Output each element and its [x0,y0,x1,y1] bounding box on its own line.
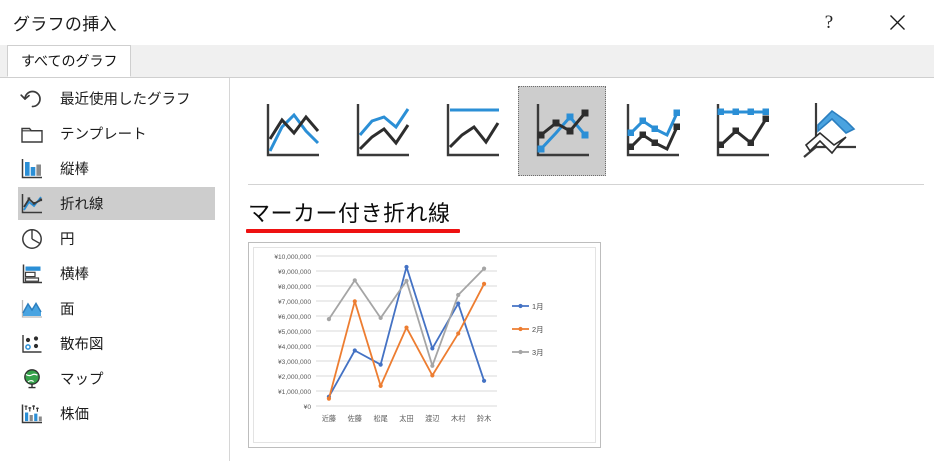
y-axis-tick-label: ¥7,000,000 [278,299,311,306]
three-d-line-thumb-icon [796,95,868,167]
series-line [329,269,484,366]
scatter-chart-icon [18,330,46,358]
pie-chart-icon [18,225,46,253]
y-axis-tick-label: ¥4,000,000 [278,344,311,351]
sidebar-item-map[interactable]: マップ [18,362,215,395]
insert-chart-dialog: グラフの挿入 ? すべてのグラフ [0,0,934,461]
y-axis-tick-label: ¥1,000,000 [278,389,311,396]
series-marker [456,301,460,305]
chart-category-sidebar: 最近使用したグラフ テンプレート [0,78,230,461]
series-marker [430,364,434,368]
y-axis-tick-label: ¥2,000,000 [278,374,311,381]
series-marker [482,267,486,271]
series-marker [353,278,357,282]
thumbnail-line-with-markers[interactable] [518,86,606,176]
sidebar-item-column[interactable]: 縦棒 [18,152,215,185]
sidebar-item-area[interactable]: 面 [18,292,215,325]
legend-label: 3月 [532,348,544,357]
stock-chart-icon [18,400,46,428]
series-marker [379,384,383,388]
title-bar: グラフの挿入 ? [0,0,934,45]
sidebar-item-label: テンプレート [60,123,147,144]
sidebar-item-bar[interactable]: 横棒 [18,257,215,290]
chart-preview-inner: ¥0¥1,000,000¥2,000,000¥3,000,000¥4,000,0… [253,247,596,443]
close-icon [889,14,906,31]
chart-preview-box[interactable]: ¥0¥1,000,000¥2,000,000¥3,000,000¥4,000,0… [248,242,601,448]
sidebar-item-scatter[interactable]: 散布図 [18,327,215,360]
help-button[interactable]: ? [806,0,852,45]
legend-marker-swatch [518,327,522,331]
x-axis-tick-label: 木村 [451,414,465,423]
sidebar-item-label: 縦棒 [60,158,89,179]
line-chart-icon [18,190,46,218]
stacked-line-thumb-icon [346,95,418,167]
series-marker [404,279,408,283]
sidebar-item-label: 株価 [60,403,89,424]
thumbnail-stacked-line[interactable] [338,86,426,176]
sidebar-item-label: 円 [60,228,75,249]
sidebar-item-label: マップ [60,368,104,389]
series-marker [404,325,408,329]
x-axis-tick-label: 鈴木 [477,414,491,423]
series-marker [379,363,383,367]
series-marker [379,316,383,320]
thumbnail-100-stacked-line-with-markers[interactable] [698,86,786,176]
series-marker [430,346,434,350]
series-marker [353,299,357,303]
series-marker [482,379,486,383]
area-chart-icon [18,295,46,323]
y-axis-tick-label: ¥5,000,000 [278,329,311,336]
y-axis-tick-label: ¥10,000,000 [274,254,311,261]
thumbnail-3d-line[interactable] [788,86,876,176]
tab-strip: すべてのグラフ [0,45,934,78]
series-marker [353,348,357,352]
series-marker [456,293,460,297]
series-marker [327,397,331,401]
legend-marker-swatch [518,350,522,354]
thumbnail-stacked-line-with-markers[interactable] [608,86,696,176]
x-axis-tick-label: 松尾 [373,414,387,423]
line-thumb-icon [256,95,328,167]
dialog-content: 最近使用したグラフ テンプレート [0,78,934,461]
map-globe-icon [18,365,46,393]
preview-line-chart: ¥0¥1,000,000¥2,000,000¥3,000,000¥4,000,0… [254,248,595,442]
x-axis-tick-label: 近藤 [322,414,336,423]
gallery-divider [248,184,924,185]
recent-undo-icon [18,85,46,113]
sidebar-item-stock[interactable]: 株価 [18,397,215,430]
y-axis-tick-label: ¥8,000,000 [278,284,311,291]
selected-chart-name: マーカー付き折れ線 [248,196,451,228]
series-marker [430,373,434,377]
y-axis-tick-label: ¥9,000,000 [278,269,311,276]
folder-icon [18,120,46,148]
thumbnail-100-stacked-line[interactable] [428,86,516,176]
sidebar-item-recent[interactable]: 最近使用したグラフ [18,82,215,115]
series-marker [456,331,460,335]
column-chart-icon [18,155,46,183]
x-axis-tick-label: 太田 [399,414,413,423]
red-underline-annotation [246,229,460,233]
y-axis-tick-label: ¥0 [304,404,312,411]
sidebar-item-pie[interactable]: 円 [18,222,215,255]
stacked-line-with-markers-thumb-icon [616,95,688,167]
chart-gallery-pane: マーカー付き折れ線 ¥0¥1,000,000¥2,000,000¥3,000,0… [230,78,934,461]
y-axis-tick-label: ¥6,000,000 [278,314,311,321]
sidebar-item-line[interactable]: 折れ線 [18,187,215,220]
bar-chart-icon [18,260,46,288]
hundred-stacked-line-thumb-icon [436,95,508,167]
tab-label: すべてのグラフ [21,51,117,71]
legend-label: 2月 [532,325,544,334]
y-axis-tick-label: ¥3,000,000 [278,359,311,366]
series-marker [404,265,408,269]
sidebar-item-label: 散布図 [60,333,104,354]
legend-marker-swatch [518,304,522,308]
series-marker [327,317,331,321]
question-mark-icon: ? [825,13,833,32]
sidebar-item-label: 面 [60,298,75,319]
x-axis-tick-label: 渡辺 [425,414,439,423]
hundred-stacked-line-with-markers-thumb-icon [706,95,778,167]
sidebar-item-label: 最近使用したグラフ [60,88,191,109]
close-button[interactable] [874,0,920,45]
thumbnail-line[interactable] [248,86,336,176]
sidebar-item-label: 横棒 [60,263,89,284]
sidebar-item-label: 折れ線 [60,193,104,214]
sidebar-item-templates[interactable]: テンプレート [18,117,215,150]
dialog-title: グラフの挿入 [13,10,117,35]
x-axis-tick-label: 佐藤 [348,414,362,423]
legend-label: 1月 [532,302,544,311]
series-marker [482,282,486,286]
chart-subtype-gallery [248,86,924,176]
line-with-markers-thumb-icon [526,95,598,167]
tab-all-charts[interactable]: すべてのグラフ [7,45,131,77]
